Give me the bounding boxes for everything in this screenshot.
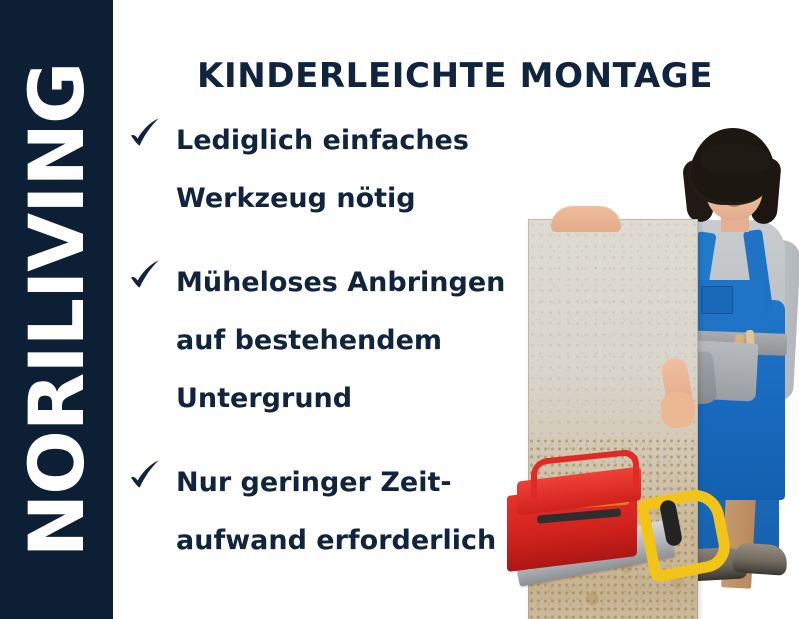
list-item-line: Nur geringer Zeit- [176,454,508,512]
product-photo [495,120,799,619]
toolbox [507,452,647,568]
overall-pocket [701,286,733,314]
brand-name: NORILIVING [19,62,95,557]
promo-banner: NORILIVING KINDERLEICHTE MONTAGE Ledigli… [0,0,799,619]
worker-fist [661,392,695,428]
brand-sidebar: NORILIVING [0,0,113,619]
list-item: Lediglich einfaches Werkzeug nötig [128,112,508,228]
list-item-line: Müheloses Anbringen [176,254,508,312]
worker-shoe-right [732,542,788,576]
list-item-text: Nur geringer Zeit- aufwand erforderlich [164,454,508,570]
hair-fringe [700,144,770,172]
checkmark-icon [128,458,164,494]
list-item-line: auf bestehendem [176,312,508,370]
brand-rotated-wrapper: NORILIVING [19,62,95,557]
list-item: Müheloses Anbringen auf bestehendem Unte… [128,254,508,428]
list-item-line: Werkzeug nötig [176,170,508,228]
feature-list: Lediglich einfaches Werkzeug nötig Mühel… [128,112,508,596]
list-item: Nur geringer Zeit- aufwand erforderlich [128,454,508,570]
list-item-text: Lediglich einfaches Werkzeug nötig [164,112,508,228]
list-item-line: aufwand erforderlich [176,512,508,570]
list-item-line: Lediglich einfaches [176,112,508,170]
checkmark-icon [128,258,164,294]
checkmark-icon [128,116,164,152]
worker-hand-top [551,206,621,232]
page-title: KINDERLEICHTE MONTAGE [197,56,713,96]
list-item-text: Müheloses Anbringen auf bestehendem Unte… [164,254,508,428]
list-item-line: Untergrund [176,370,508,428]
